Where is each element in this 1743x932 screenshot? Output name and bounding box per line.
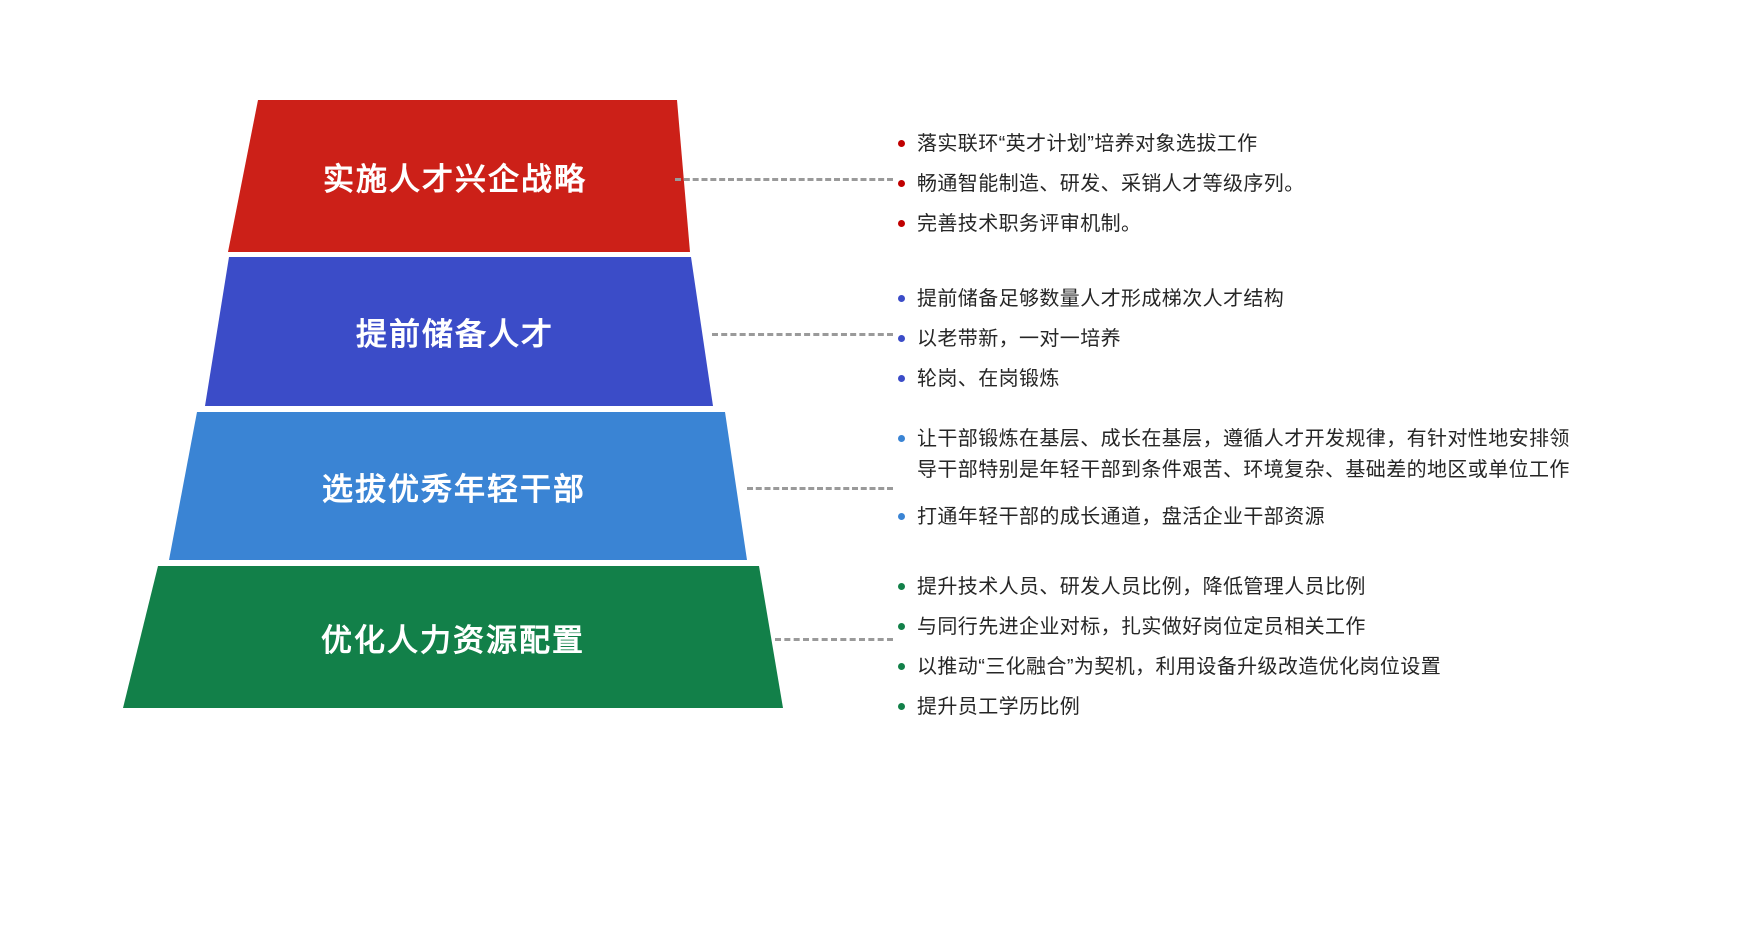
bullet-dot-icon (898, 513, 905, 520)
pyramid-diagram-canvas: 实施人才兴企战略 提前储备人才 选拔优秀年轻干部 优化人力资源配置 (0, 0, 1743, 932)
list-item: 提升技术人员、研发人员比例，降低管理人员比例 (898, 572, 1698, 603)
list-item: 轮岗、在岗锻炼 (898, 364, 1598, 395)
pyramid-level-1-caption: 实施人才兴企战略 (323, 154, 587, 199)
list-item: 完善技术职务评审机制。 (898, 209, 1598, 240)
bullet-text: 以推动“三化融合”为契机，利用设备升级改造优化岗位设置 (917, 652, 1441, 683)
bullet-text: 完善技术职务评审机制。 (917, 209, 1141, 240)
bullet-dot-icon (898, 703, 905, 710)
bullet-dot-icon (898, 295, 905, 302)
bullet-text: 提前储备足够数量人才形成梯次人才结构 (917, 284, 1284, 315)
list-item: 让干部锻炼在基层、成长在基层，遵循人才开发规律，有针对性地安排领 导干部特别是年… (898, 424, 1698, 486)
list-item: 以老带新，一对一培养 (898, 324, 1598, 355)
bullet-dot-icon (898, 375, 905, 382)
bullet-dot-icon (898, 220, 905, 227)
pyramid-level-2[interactable]: 提前储备人才 (197, 257, 713, 406)
bullet-text: 让干部锻炼在基层、成长在基层，遵循人才开发规律，有针对性地安排领 导干部特别是年… (917, 424, 1570, 486)
bullet-dot-icon (898, 623, 905, 630)
bullet-text: 畅通智能制造、研发、采销人才等级序列。 (917, 169, 1305, 200)
bullet-text: 落实联环“英才计划”培养对象选拔工作 (917, 129, 1258, 160)
list-item: 打通年轻干部的成长通道，盘活企业干部资源 (898, 502, 1698, 533)
bullet-text: 打通年轻干部的成长通道，盘活企业干部资源 (917, 502, 1325, 533)
connector-line-1 (675, 178, 893, 181)
bullet-text: 提升员工学历比例 (917, 692, 1080, 723)
connector-line-3 (747, 487, 893, 490)
pyramid-level-3[interactable]: 选拔优秀年轻干部 (161, 412, 747, 560)
list-item: 畅通智能制造、研发、采销人才等级序列。 (898, 169, 1598, 200)
pyramid-level-2-caption: 提前储备人才 (356, 309, 554, 354)
bullet-dot-icon (898, 335, 905, 342)
bullet-dot-icon (898, 140, 905, 147)
bullet-dot-icon (898, 583, 905, 590)
pyramid-level-4-caption: 优化人力资源配置 (321, 615, 585, 660)
bullet-text: 提升技术人员、研发人员比例，降低管理人员比例 (917, 572, 1366, 603)
list-item: 提升员工学历比例 (898, 692, 1698, 723)
bullet-group-3: 让干部锻炼在基层、成长在基层，遵循人才开发规律，有针对性地安排领 导干部特别是年… (898, 424, 1698, 542)
pyramid-graphic: 实施人才兴企战略 提前储备人才 选拔优秀年轻干部 优化人力资源配置 (0, 0, 900, 932)
bullet-text: 轮岗、在岗锻炼 (917, 364, 1060, 395)
bullet-dot-icon (898, 663, 905, 670)
bullet-group-1: 落实联环“英才计划”培养对象选拔工作 畅通智能制造、研发、采销人才等级序列。 完… (898, 129, 1598, 249)
list-item: 与同行先进企业对标，扎实做好岗位定员相关工作 (898, 612, 1698, 643)
bullet-dot-icon (898, 435, 905, 442)
bullet-text: 以老带新，一对一培养 (917, 324, 1121, 355)
list-item: 以推动“三化融合”为契机，利用设备升级改造优化岗位设置 (898, 652, 1698, 683)
connector-line-4 (775, 638, 893, 641)
bullet-text: 与同行先进企业对标，扎实做好岗位定员相关工作 (917, 612, 1366, 643)
connector-line-2 (712, 333, 893, 336)
bullet-group-4: 提升技术人员、研发人员比例，降低管理人员比例 与同行先进企业对标，扎实做好岗位定… (898, 572, 1698, 732)
list-item: 落实联环“英才计划”培养对象选拔工作 (898, 129, 1598, 160)
bullet-group-2: 提前储备足够数量人才形成梯次人才结构 以老带新，一对一培养 轮岗、在岗锻炼 (898, 284, 1598, 404)
bullet-dot-icon (898, 180, 905, 187)
pyramid-level-4[interactable]: 优化人力资源配置 (123, 566, 783, 708)
list-item: 提前储备足够数量人才形成梯次人才结构 (898, 284, 1598, 315)
pyramid-level-1[interactable]: 实施人才兴企战略 (220, 100, 690, 252)
pyramid-level-3-caption: 选拔优秀年轻干部 (322, 464, 586, 509)
